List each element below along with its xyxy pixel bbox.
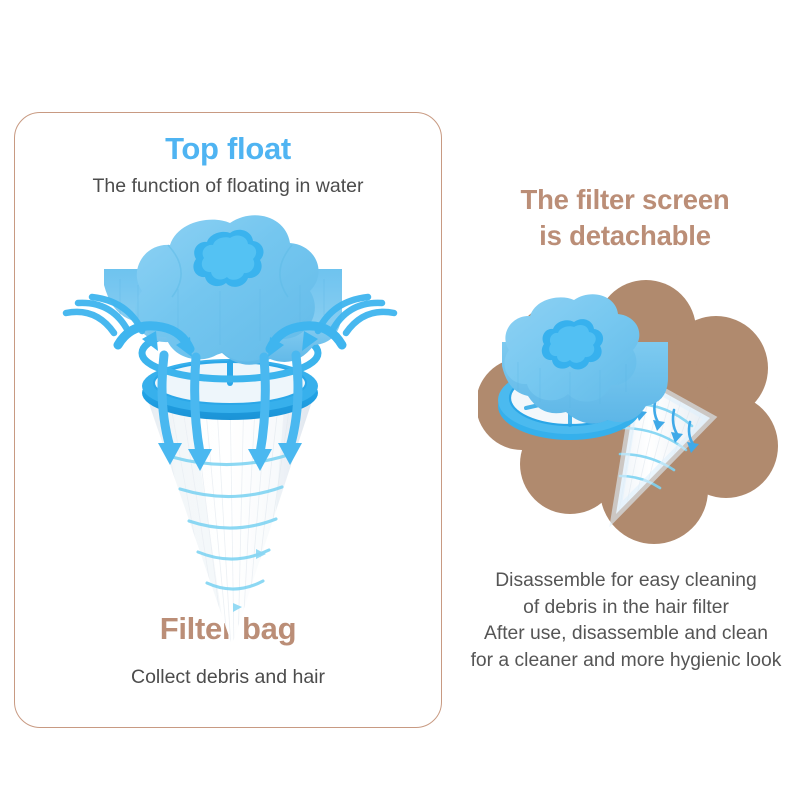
- right-panel-title: The filter screen is detachable: [460, 182, 790, 254]
- right-panel-title-line-2: is detachable: [460, 218, 790, 254]
- mesh-cone-bag: [146, 390, 314, 650]
- product-image-assembled-filter: [60, 205, 400, 665]
- product-image-detached-filter: [478, 278, 788, 548]
- right-panel-title-line-1: The filter screen: [460, 182, 790, 218]
- right-panel-body-line-3: After use, disassemble and clean: [452, 621, 800, 648]
- right-panel-body-line-2: of debris in the hair filter: [452, 595, 800, 622]
- right-panel-body-text: Disassemble for easy cleaning of debris …: [452, 568, 800, 675]
- left-panel-subtitle: The function of floating in water: [15, 175, 441, 198]
- infographic-canvas: Top float The function of floating in wa…: [0, 0, 800, 800]
- right-panel-body-line-1: Disassemble for easy cleaning: [452, 568, 800, 595]
- right-panel-body-line-4: for a cleaner and more hygienic look: [452, 648, 800, 675]
- left-panel-footer-subtitle: Collect debris and hair: [15, 666, 441, 689]
- left-panel-title: Top float: [15, 131, 441, 167]
